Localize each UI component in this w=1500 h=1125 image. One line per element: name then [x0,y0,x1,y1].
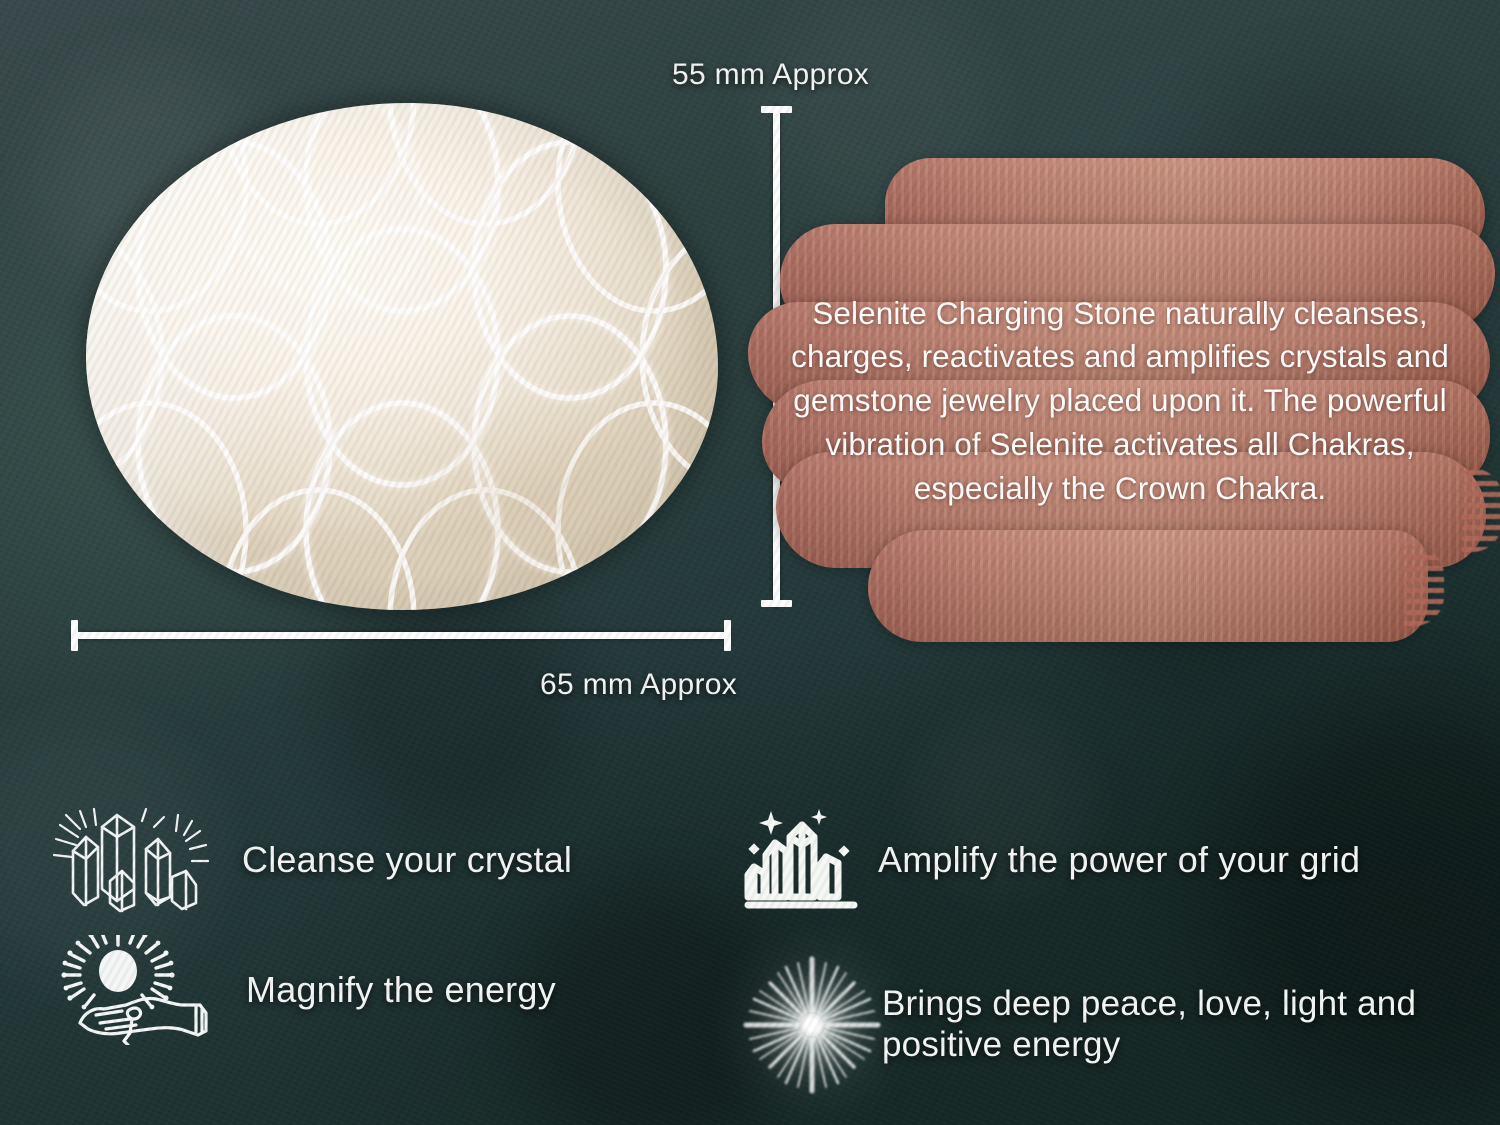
crystal-grid-icon [742,805,860,915]
infographic-canvas: 55 mm Approx 65 mm Approx Selenite Charg… [0,0,1500,1125]
feature-label: Cleanse your crystal [242,839,572,881]
crystal-cluster-icon [46,805,214,915]
starburst-icon [742,955,882,1095]
feature-item-peace: Brings deep peace, love, light and posit… [742,955,1500,1095]
starburst-glow [742,955,882,1095]
feature-label: Brings deep peace, love, light and posit… [882,984,1500,1065]
measure-cap-top [761,106,792,113]
description-text: Selenite Charging Stone naturally cleans… [740,152,1500,650]
feature-item-cleanse: Cleanse your crystal [46,805,572,915]
feature-label: Amplify the power of your grid [878,839,1360,881]
height-dimension-label: 55 mm Approx [672,58,869,92]
measure-cap-left [71,620,78,651]
measure-cap-right [724,620,731,651]
feature-item-magnify: Magnify the energy [50,935,556,1045]
width-measure-line [71,632,731,639]
description-panel: Selenite Charging Stone naturally cleans… [740,152,1500,650]
starburst-core [799,1012,825,1038]
flower-of-life-pattern [86,103,718,610]
feature-item-amplify: Amplify the power of your grid [742,805,1360,915]
selenite-disc [86,103,718,610]
width-dimension-label: 65 mm Approx [540,668,737,702]
sun-in-hands-icon [50,935,218,1045]
product-stone-image [86,103,718,610]
feature-label: Magnify the energy [246,969,556,1011]
